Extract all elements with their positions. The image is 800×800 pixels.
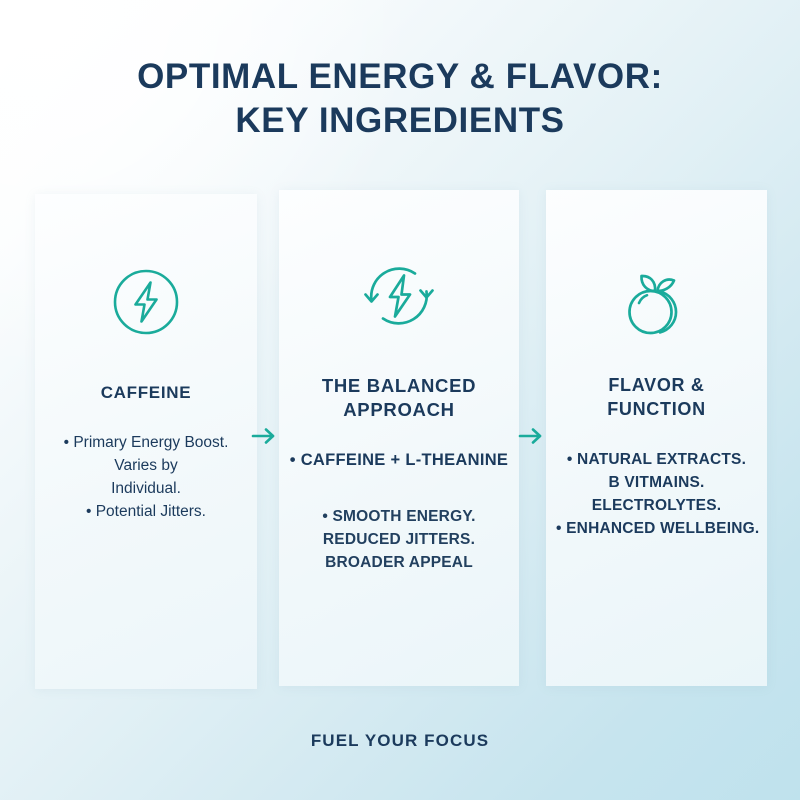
- card-flavor-function[interactable]: FLAVOR & FUNCTION • NATURAL EXTRACTS. B …: [546, 190, 767, 686]
- card-body-flavor: • NATURAL EXTRACTS. B VITMAINS. ELECTROL…: [546, 448, 767, 541]
- body-line: • ENHANCED WELLBEING.: [556, 517, 757, 540]
- card-balanced-approach[interactable]: THE BALANCED APPROACH • CAFFEINE + L-THE…: [279, 190, 519, 686]
- card-heading-flavor: FLAVOR & FUNCTION: [546, 374, 767, 422]
- arrow-right-icon: [516, 425, 546, 447]
- card-body-sub-balanced: • SMOOTH ENERGY. REDUCED JITTERS. BROADE…: [279, 505, 519, 575]
- icon-container-flavor: [546, 248, 767, 360]
- body-line: REDUCED JITTERS.: [323, 531, 475, 548]
- cards-row: CAFFEINE • Primary Energy Boost. Varies …: [35, 190, 767, 686]
- card-caffeine[interactable]: CAFFEINE • Primary Energy Boost. Varies …: [35, 194, 257, 689]
- card-heading-balanced: THE BALANCED APPROACH: [279, 374, 519, 423]
- peach-fruit-icon: [617, 262, 697, 347]
- heading-line-1: THE BALANCED: [289, 374, 509, 398]
- body-line: B VITMAINS.: [556, 471, 757, 494]
- bolt-cycle-refresh-icon: [357, 254, 441, 343]
- body-line: • Potential Jitters.: [45, 501, 247, 524]
- heading-line-2: APPROACH: [289, 398, 509, 422]
- card-body-strong-balanced: • CAFFEINE + L-THEANINE: [279, 449, 519, 473]
- icon-container-balanced: [279, 242, 519, 354]
- infographic-canvas: OPTIMAL ENERGY & FLAVOR: KEY INGREDIENTS…: [0, 0, 800, 800]
- body-line: BROADER APPEAL: [325, 554, 473, 571]
- body-line: ELECTROLYTES.: [556, 494, 757, 517]
- page-title: OPTIMAL ENERGY & FLAVOR: KEY INGREDIENTS: [0, 55, 800, 144]
- card-heading-caffeine: CAFFEINE: [35, 382, 257, 404]
- body-line: • NATURAL EXTRACTS.: [556, 448, 757, 471]
- body-line: Varies by: [45, 455, 247, 478]
- card-body-caffeine: • Primary Energy Boost. Varies by Indivi…: [35, 432, 257, 523]
- title-line-2: KEY INGREDIENTS: [0, 99, 800, 143]
- body-line: • SMOOTH ENERGY.: [322, 508, 475, 525]
- lightning-bolt-in-circle-icon: [109, 265, 183, 344]
- body-line: • Primary Energy Boost.: [45, 432, 247, 455]
- arrow-right-icon: [249, 425, 279, 447]
- title-line-1: OPTIMAL ENERGY & FLAVOR:: [0, 55, 800, 99]
- body-line: Individual.: [45, 478, 247, 501]
- heading-line-1: FLAVOR &: [556, 374, 757, 398]
- icon-container-caffeine: [35, 248, 257, 360]
- footer-tagline: FUEL YOUR FOCUS: [0, 731, 800, 751]
- heading-line-2: FUNCTION: [556, 398, 757, 422]
